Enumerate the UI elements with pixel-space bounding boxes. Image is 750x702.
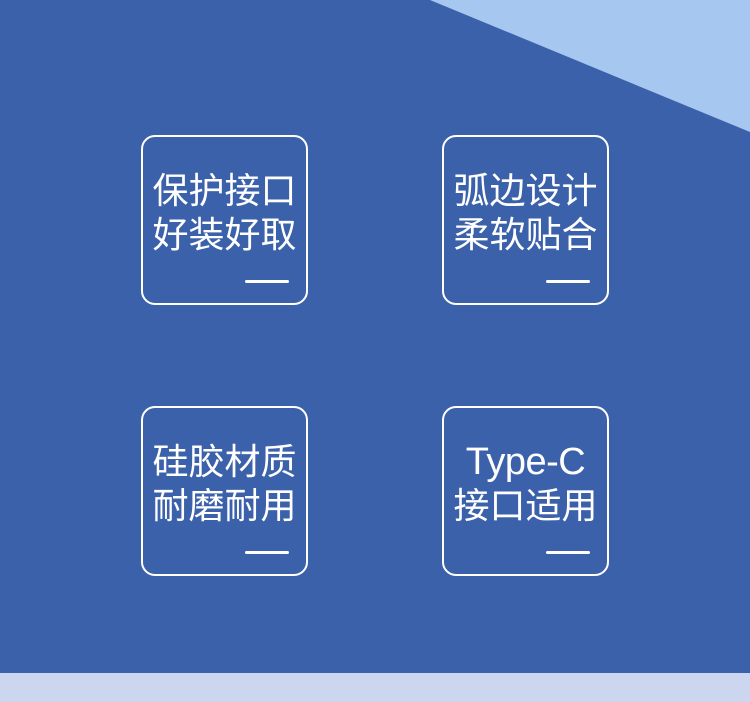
product-feature-poster: 保护接口 好装好取 弧边设计 柔软贴合 硅胶材质 耐磨耐用 Type-C 接口适… [0, 0, 750, 702]
feature-card-line-2: 接口适用 [453, 484, 597, 528]
bottom-accent-strip [0, 673, 750, 702]
feature-card-underline [546, 551, 590, 554]
feature-card-silicone: 硅胶材质 耐磨耐用 [141, 406, 308, 576]
feature-card-arc-edge: 弧边设计 柔软贴合 [442, 135, 609, 305]
feature-card-type-c: Type-C 接口适用 [442, 406, 609, 576]
feature-card-line-1: 弧边设计 [453, 169, 597, 213]
feature-card-underline [546, 280, 590, 283]
feature-card-line-2: 好装好取 [152, 213, 296, 257]
feature-card-line-1: 保护接口 [152, 169, 296, 213]
feature-card-protect-port: 保护接口 好装好取 [141, 135, 308, 305]
feature-card-underline [245, 280, 289, 283]
top-right-corner-wedge [430, 0, 750, 132]
feature-card-line-2: 柔软贴合 [453, 213, 597, 257]
feature-card-grid: 保护接口 好装好取 弧边设计 柔软贴合 硅胶材质 耐磨耐用 Type-C 接口适… [141, 135, 609, 575]
feature-card-line-2: 耐磨耐用 [152, 484, 296, 528]
feature-card-line-1: Type-C [466, 440, 585, 484]
feature-card-underline [245, 551, 289, 554]
feature-card-line-1: 硅胶材质 [152, 440, 296, 484]
